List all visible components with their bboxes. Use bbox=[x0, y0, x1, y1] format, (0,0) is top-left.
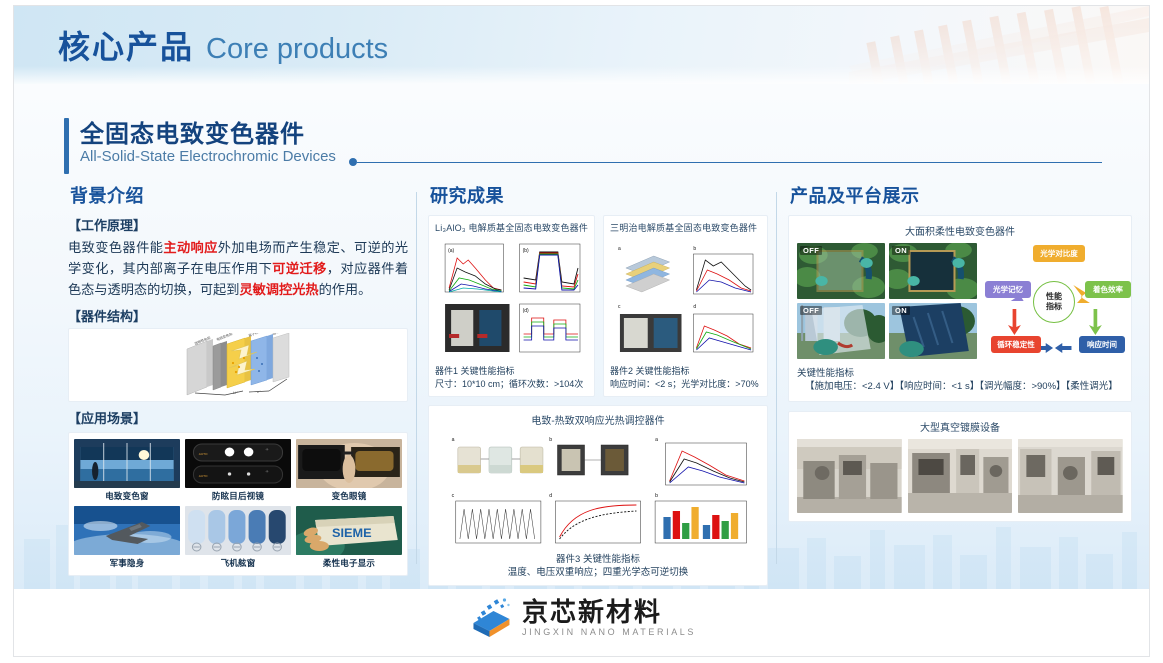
principle-seg-1: 电致变色器件能 bbox=[68, 240, 163, 255]
application-scenario-label: 【应用场景】 bbox=[68, 408, 408, 427]
scenario-item: SIEME 柔性电子显示 bbox=[296, 506, 402, 569]
principle-highlight-1: 主动响应 bbox=[163, 240, 217, 255]
hub-node-optical-memory: 光学记忆 bbox=[985, 281, 1031, 298]
page-title-en: Core products bbox=[206, 33, 388, 65]
svg-text:电致变色层: 电致变色层 bbox=[216, 333, 234, 342]
svg-text:SIEME: SIEME bbox=[332, 526, 372, 540]
logo-text: 京芯新材料 JINGXIN NANO MATERIALS bbox=[522, 599, 696, 637]
product-content: OFF ON bbox=[797, 243, 1123, 361]
scenario-caption: 柔性电子显示 bbox=[296, 557, 402, 569]
svg-text:(a): (a) bbox=[448, 248, 454, 254]
slide-header: 核心产品Core products bbox=[14, 6, 1149, 84]
product-kpi-value: 【施加电压：<2.4 V】【响应时间：<1 s】【调光幅度：>90%】【柔性调光… bbox=[805, 380, 1123, 393]
device-structure-figure: Li⁺e⁻ 透明导电层 电致变色层 离子存储层 透明导电层 bbox=[68, 328, 408, 402]
vacuum-coater-photo-2 bbox=[908, 439, 1013, 513]
device-structure-label: 【器件结构】 bbox=[68, 306, 408, 325]
aircraft-window-photo bbox=[185, 506, 291, 555]
hub-node-label: 循环稳定性 bbox=[997, 340, 1035, 349]
research-figure-card: Li₃AlO₃ 电解质基全固态电致变色器件 (a) (b) (c) (d) bbox=[428, 215, 595, 397]
column-background: 产品及平台展示 大面积柔性电致变色器件 bbox=[788, 182, 1132, 522]
street-film-clear-photo: OFF bbox=[797, 303, 885, 359]
hub-node-label: 光学对比度 bbox=[1040, 249, 1078, 258]
hub-center-label: 性能 指标 bbox=[1033, 281, 1075, 323]
section-title-cn: 全固态电致变色器件 bbox=[80, 114, 305, 149]
company-logo: 京芯新材料 JINGXIN NANO MATERIALS bbox=[467, 597, 696, 639]
svg-text:(b): (b) bbox=[523, 248, 529, 254]
svg-text:b: b bbox=[549, 437, 552, 443]
figure-kpi: 器件2 关键性能指标 响应时间：<2 s；光学对比度：>70% bbox=[610, 365, 761, 390]
scenario-item: 军事隐身 bbox=[74, 506, 180, 569]
section-rule bbox=[357, 162, 1102, 163]
hub-node-label: 响应时间 bbox=[1087, 340, 1117, 349]
scenario-item: 电致变色窗 bbox=[74, 439, 180, 502]
column-background: 研究成果 Li₃AlO₃ 电解质基全固态电致变色器件 (a) (b) (c) (… bbox=[428, 182, 768, 586]
performance-hub-diagram: 光学对比度 着色效率 响应时间 循环稳定性 光学记忆 性能 bbox=[985, 243, 1123, 361]
research-figure-row: Li₃AlO₃ 电解质基全固态电致变色器件 (a) (b) (c) (d) bbox=[428, 215, 768, 397]
figure-kpi-title: 器件2 关键性能指标 bbox=[610, 365, 761, 378]
stealth-aircraft-photo bbox=[74, 506, 180, 555]
hub-center-text: 性能 指标 bbox=[1046, 292, 1062, 312]
state-badge: ON bbox=[892, 306, 910, 315]
column-divider-2 bbox=[776, 192, 777, 564]
svg-text:a: a bbox=[452, 437, 455, 443]
svg-text:a: a bbox=[655, 437, 658, 443]
scenario-item: 变色眼镜 bbox=[296, 439, 402, 502]
svg-text:e⁻: e⁻ bbox=[257, 389, 261, 394]
working-principle-text: 电致变色器件能主动响应外加电场而产生稳定、可逆的光学变化，其内部离子在电压作用下… bbox=[68, 237, 408, 300]
working-principle-label: 【工作原理】 bbox=[68, 215, 408, 234]
device-stack-diagram-icon: Li⁺e⁻ 透明导电层 电致变色层 离子存储层 透明导电层 bbox=[173, 333, 303, 397]
slide: 核心产品Core products bbox=[0, 0, 1163, 663]
svg-text:AUTO: AUTO bbox=[199, 452, 208, 456]
application-scenarios-panel: 电致变色窗 AUTOAUTO -|--|- bbox=[68, 432, 408, 576]
product-kpi: 关键性能指标 【施加电压：<2.4 V】【响应时间：<1 s】【调光幅度：>90… bbox=[797, 367, 1123, 393]
equipment-panel: 大型真空镀膜设备 bbox=[788, 411, 1132, 522]
vacuum-coater-photo-1 bbox=[797, 439, 902, 513]
figure-kpi: 器件1 关键性能指标 尺寸：10*10 cm；循环次数：>104次 bbox=[435, 365, 588, 390]
hub-node-label: 光学记忆 bbox=[993, 285, 1023, 294]
svg-text:d: d bbox=[549, 493, 552, 499]
section-title-en: All-Solid-State Electrochromic Devices bbox=[80, 148, 336, 165]
svg-text:(d): (d) bbox=[523, 308, 529, 314]
page-title: 核心产品Core products bbox=[58, 22, 388, 68]
street-film-tinted-photo: ON bbox=[889, 303, 977, 359]
leaf-panel-tinted-photo: ON bbox=[889, 243, 977, 299]
principle-highlight-3: 灵敏调控光热 bbox=[239, 282, 318, 297]
figure-caption: 三明治电解质基全固态电致变色器件 bbox=[610, 221, 761, 234]
section-rule-dot bbox=[349, 158, 357, 166]
slide-footer: 京芯新材料 JINGXIN NANO MATERIALS bbox=[14, 589, 1149, 656]
application-scenarios-grid: 电致变色窗 AUTOAUTO -|--|- bbox=[74, 439, 402, 569]
hub-node-cycle-stability: 循环稳定性 bbox=[991, 336, 1041, 353]
figure-image-1: (a) (b) (c) (d) bbox=[435, 238, 588, 360]
research-figure-wide-card: 电致-热致双响应光热调控器件 aba cdb bbox=[428, 405, 768, 586]
svg-text:c: c bbox=[452, 493, 455, 499]
svg-text:b: b bbox=[655, 493, 658, 499]
scenario-item: 飞机舷窗 bbox=[185, 506, 291, 569]
svg-text:-|-: -|- bbox=[266, 469, 269, 473]
slide-page: 核心产品Core products bbox=[14, 6, 1149, 656]
figure-image-3: aba cdb bbox=[435, 431, 761, 549]
equipment-photo-grid bbox=[797, 439, 1123, 513]
right-column-title: 产品及平台展示 bbox=[790, 182, 1132, 208]
wide-figure-kpi-value: 温度、电压双重响应；四重光学态可逆切换 bbox=[435, 567, 761, 580]
jingxin-logo-icon bbox=[467, 597, 513, 639]
state-badge: OFF bbox=[800, 306, 822, 315]
middle-column-title: 研究成果 bbox=[430, 182, 768, 208]
svg-text:AUTO: AUTO bbox=[199, 474, 208, 478]
equipment-caption: 大型真空镀膜设备 bbox=[797, 419, 1123, 434]
state-badge: ON bbox=[892, 246, 910, 255]
principle-seg-4: 的作用。 bbox=[319, 282, 372, 297]
principle-highlight-2: 可逆迁移 bbox=[272, 261, 326, 276]
figure-kpi-value: 响应时间：<2 s；光学对比度：>70% bbox=[610, 378, 761, 391]
scenario-caption: 飞机舷窗 bbox=[185, 557, 291, 569]
hub-node-optical-contrast: 光学对比度 bbox=[1033, 245, 1085, 262]
flexible-display-photo: SIEME bbox=[296, 506, 402, 555]
logo-name-en: JINGXIN NANO MATERIALS bbox=[522, 627, 696, 637]
logo-name-cn: 京芯新材料 bbox=[522, 599, 696, 626]
svg-text:-|-: -|- bbox=[266, 447, 269, 451]
hub-node-response-time: 响应时间 bbox=[1079, 336, 1125, 353]
scenario-caption: 防眩目后视镜 bbox=[185, 490, 291, 502]
page-title-cn: 核心产品 bbox=[58, 29, 194, 65]
scenario-caption: 军事隐身 bbox=[74, 557, 180, 569]
svg-text:b: b bbox=[693, 246, 696, 252]
svg-text:a: a bbox=[618, 246, 621, 252]
product-kpi-title: 关键性能指标 bbox=[797, 367, 1123, 380]
hub-node-label: 着色效率 bbox=[1093, 285, 1123, 294]
anti-glare-mirror-photo: AUTOAUTO -|--|- bbox=[185, 439, 291, 488]
figure-kpi-title: 器件1 关键性能指标 bbox=[435, 365, 588, 378]
figure-kpi-value: 尺寸：10*10 cm；循环次数：>104次 bbox=[435, 378, 588, 391]
figure-caption: Li₃AlO₃ 电解质基全固态电致变色器件 bbox=[435, 221, 588, 234]
scenario-item: AUTOAUTO -|--|- 防眩目后视镜 bbox=[185, 439, 291, 502]
wide-figure-caption: 电致-热致双响应光热调控器件 bbox=[435, 412, 761, 427]
column-background: 背景介绍 【工作原理】 电致变色器件能主动响应外加电场而产生稳定、可逆的光学变化… bbox=[68, 182, 408, 576]
left-column-title: 背景介绍 bbox=[70, 182, 408, 208]
research-figure-card: 三明治电解质基全固态电致变色器件 a b c d bbox=[603, 215, 768, 397]
wide-figure-kpi: 器件3 关键性能指标 温度、电压双重响应；四重光学态可逆切换 bbox=[435, 554, 761, 579]
header-sheen bbox=[14, 66, 1149, 84]
product-caption: 大面积柔性电致变色器件 bbox=[797, 223, 1123, 238]
product-showcase-panel: 大面积柔性电致变色器件 bbox=[788, 215, 1132, 402]
leaf-panel-clear-photo: OFF bbox=[797, 243, 885, 299]
vacuum-coater-photo-3 bbox=[1018, 439, 1123, 513]
photochromic-glasses-photo bbox=[296, 439, 402, 488]
product-photo-grid: OFF ON bbox=[797, 243, 977, 359]
svg-text:Li⁺: Li⁺ bbox=[233, 390, 238, 395]
column-divider-1 bbox=[416, 192, 417, 564]
svg-text:d: d bbox=[693, 304, 696, 310]
product-photo-group: OFF ON bbox=[797, 243, 977, 361]
figure-image-2: a b c d bbox=[610, 238, 761, 360]
scenario-caption: 变色眼镜 bbox=[296, 490, 402, 502]
smart-window-photo bbox=[74, 439, 180, 488]
state-badge: OFF bbox=[800, 246, 822, 255]
wide-figure-kpi-title: 器件3 关键性能指标 bbox=[435, 554, 761, 567]
section-accent-bar bbox=[64, 118, 69, 174]
scenario-caption: 电致变色窗 bbox=[74, 490, 180, 502]
hub-node-coloration-efficiency: 着色效率 bbox=[1085, 281, 1131, 298]
